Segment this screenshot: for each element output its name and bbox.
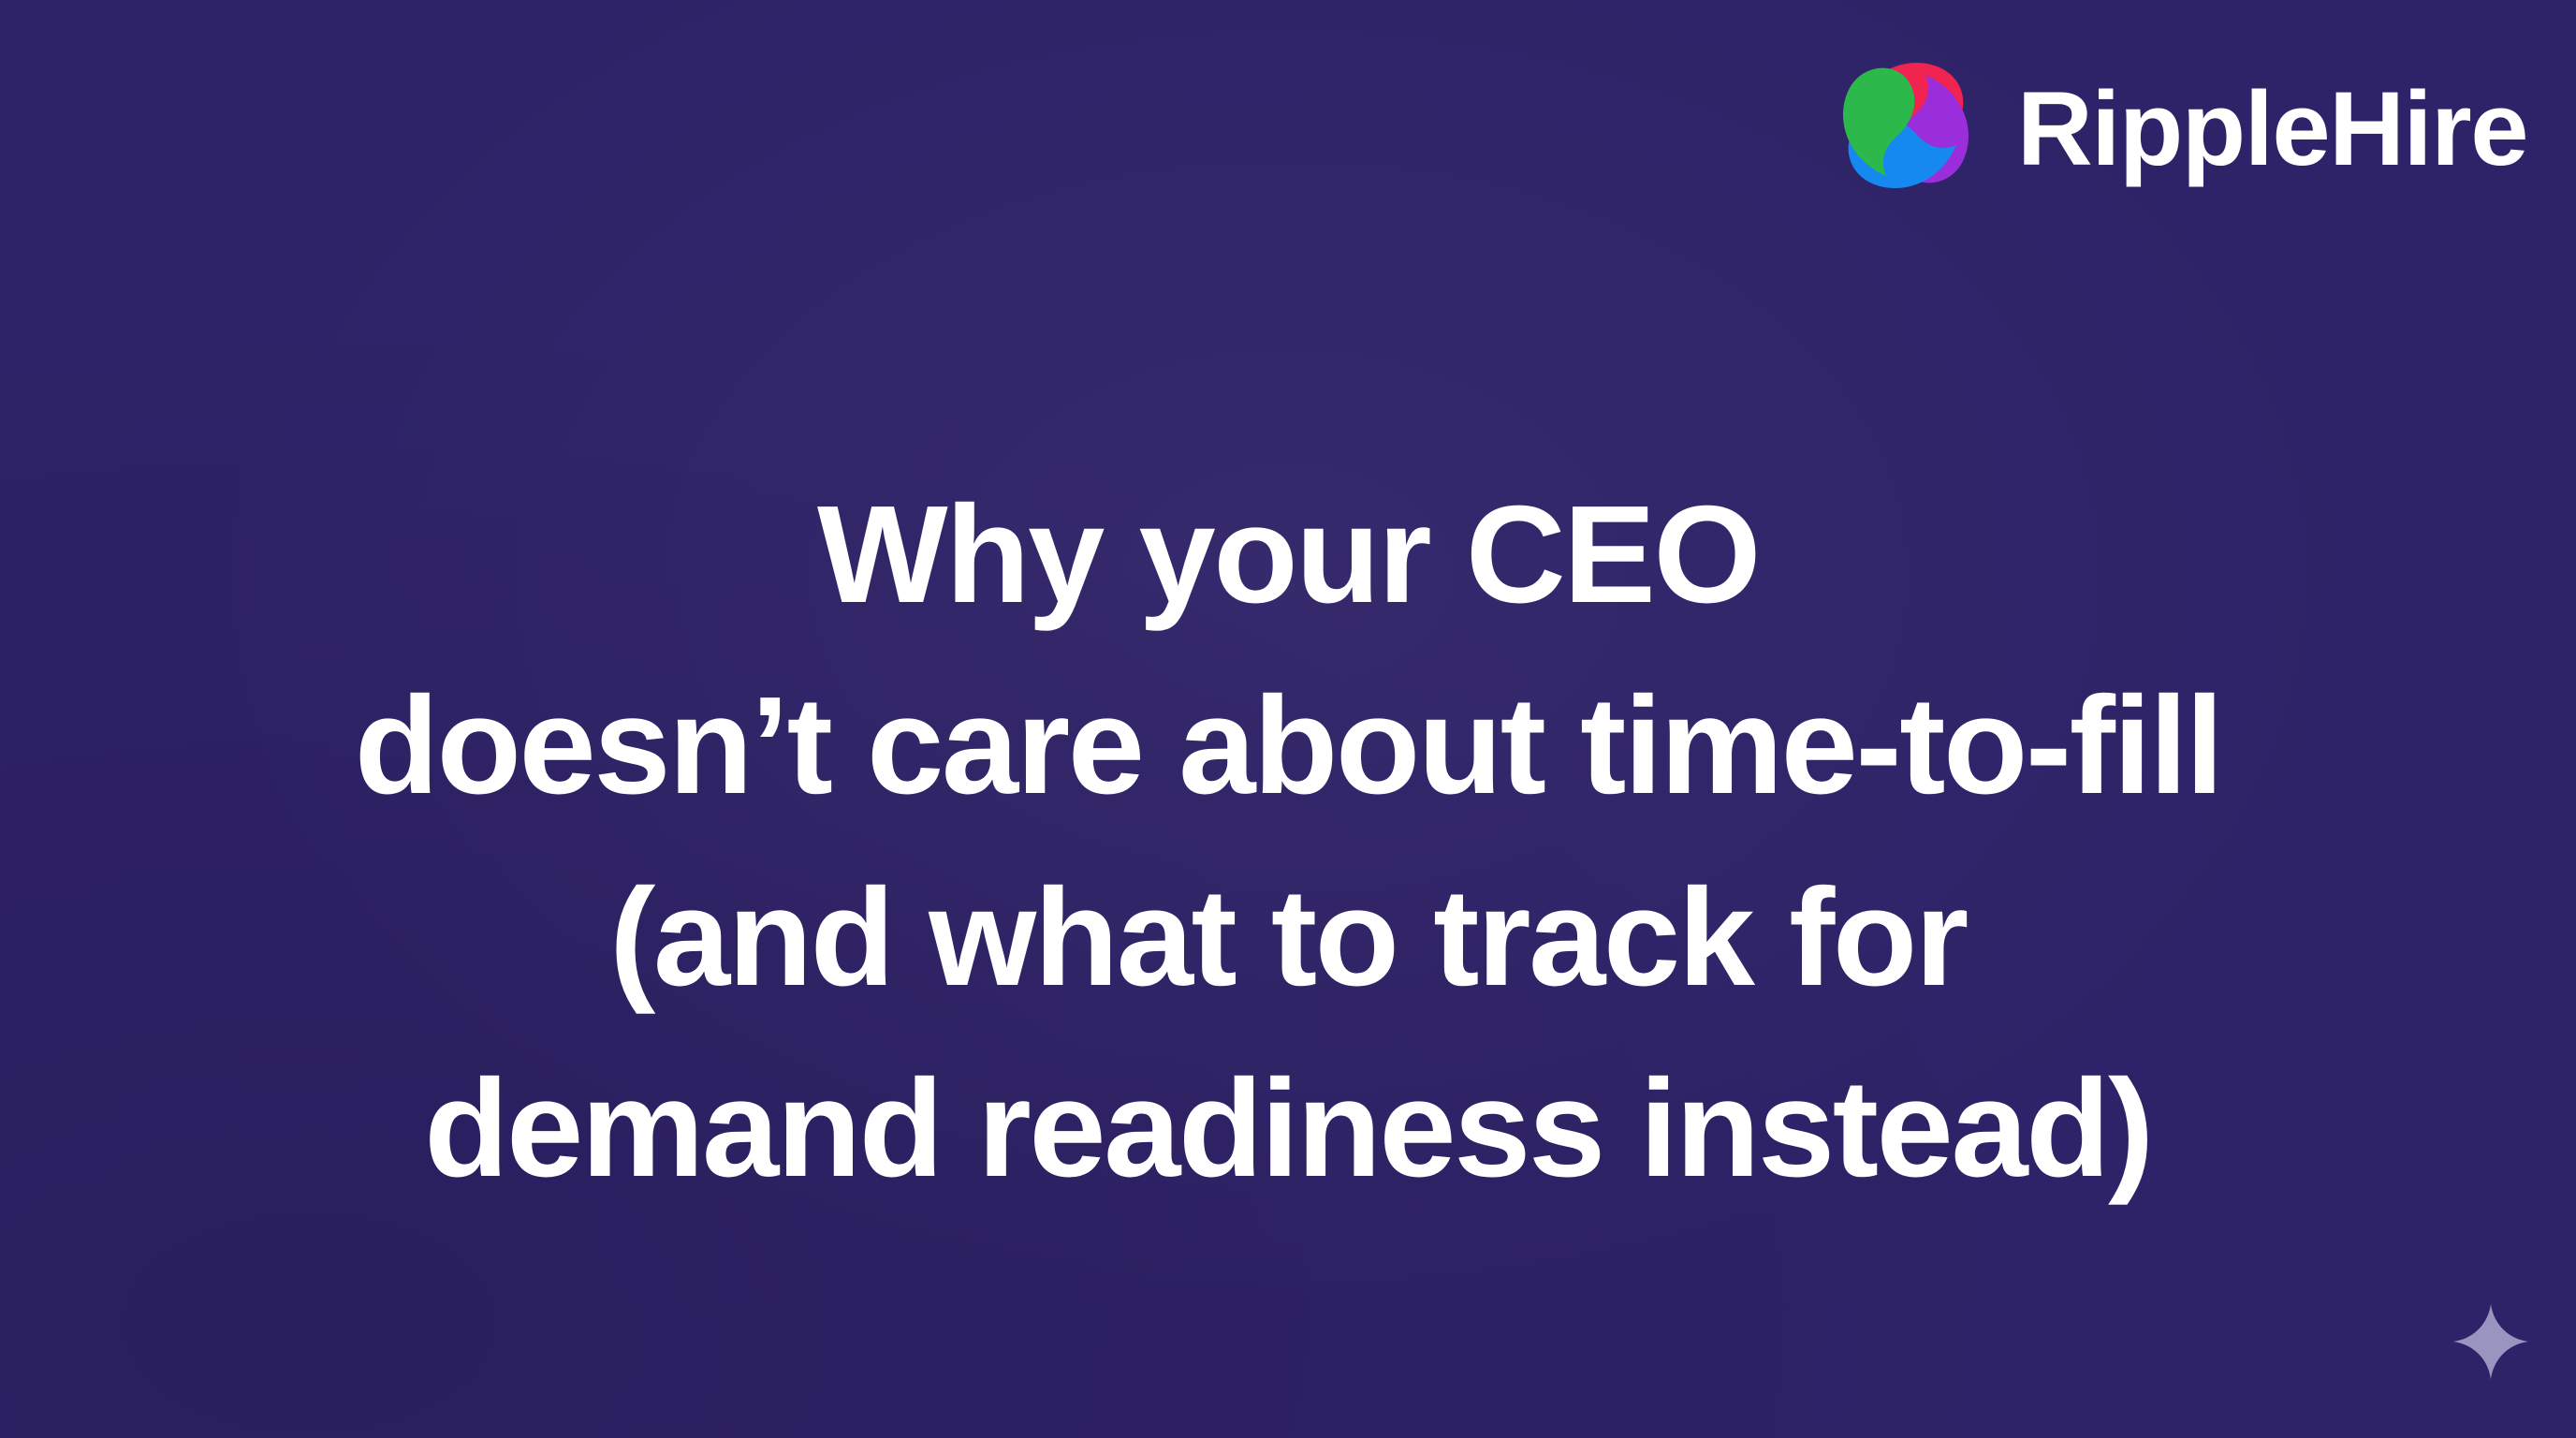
headline-line-3: (and what to track for <box>56 843 2520 1034</box>
brand-lockup[interactable]: RippleHire <box>1819 32 2527 219</box>
brand-wordmark: RippleHire <box>2017 77 2527 182</box>
headline-line-2: doesn’t care about time-to-fill <box>56 651 2520 842</box>
headline-line-4: demand readiness instead) <box>56 1034 2520 1225</box>
headline-line-1: Why your CEO <box>56 460 2520 651</box>
title-slide: RippleHire Why your CEO doesn’t care abo… <box>0 0 2576 1438</box>
four-point-sparkle-icon <box>2451 1301 2531 1382</box>
slide-headline: Why your CEO doesn’t care about time-to-… <box>0 460 2576 1225</box>
ripple-pinwheel-icon <box>1819 32 1993 219</box>
